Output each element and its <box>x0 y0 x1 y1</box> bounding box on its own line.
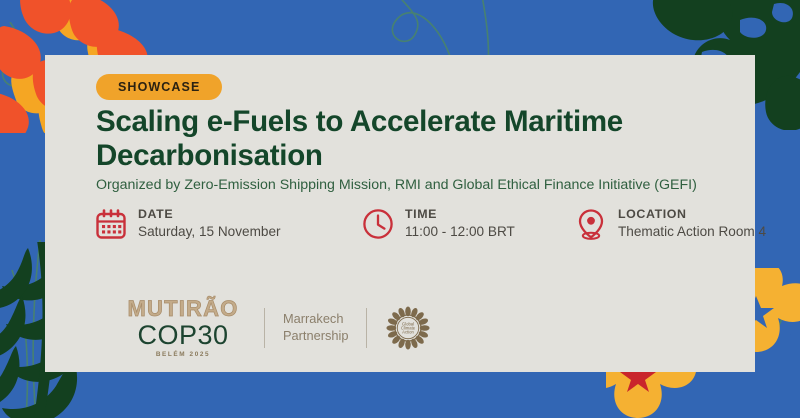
detail-location-label: LOCATION <box>618 207 766 223</box>
event-card: SHOWCASE Scaling e-Fuels to Accelerate M… <box>45 55 755 372</box>
cop30-logo: MUTIRÃO COP30 BELÉM 2025 <box>120 298 246 358</box>
detail-date-text: DATE Saturday, 15 November <box>138 207 281 240</box>
detail-date-label: DATE <box>138 207 281 223</box>
clock-icon <box>361 207 395 241</box>
event-details-row: DATE Saturday, 15 November TIME 11:00 - … <box>94 207 754 257</box>
logo-divider-left <box>264 308 265 348</box>
detail-time-text: TIME 11:00 - 12:00 BRT <box>405 207 515 240</box>
seal-line-3: Action <box>403 330 415 335</box>
detail-time-value: 11:00 - 12:00 BRT <box>405 223 515 241</box>
event-organizer: Organized by Zero-Emission Shipping Miss… <box>96 176 756 194</box>
showcase-badge: SHOWCASE <box>96 74 222 100</box>
marrakech-partnership-logo: Marrakech Partnership <box>283 311 348 345</box>
marrakech-line-2: Partnership <box>283 328 348 345</box>
event-title: Scaling e-Fuels to Accelerate Maritime D… <box>96 105 716 173</box>
logo-lockup: MUTIRÃO COP30 BELÉM 2025 Marrakech Partn… <box>120 298 431 358</box>
detail-location: LOCATION Thematic Action Room 4 <box>574 207 766 241</box>
detail-date: DATE Saturday, 15 November <box>94 207 281 241</box>
detail-location-value: Thematic Action Room 4 <box>618 223 766 241</box>
cop30-belem-text: BELÉM 2025 <box>120 351 246 358</box>
detail-location-text: LOCATION Thematic Action Room 4 <box>618 207 766 240</box>
calendar-icon <box>94 207 128 241</box>
global-climate-action-seal: Global Climate Action <box>385 305 431 351</box>
location-pin-icon <box>574 207 608 241</box>
logo-divider-right <box>366 308 367 348</box>
detail-time-label: TIME <box>405 207 515 223</box>
cop30-mutirao-text: MUTIRÃO <box>120 298 246 320</box>
marrakech-line-1: Marrakech <box>283 311 348 328</box>
detail-date-value: Saturday, 15 November <box>138 223 281 241</box>
detail-time: TIME 11:00 - 12:00 BRT <box>361 207 515 241</box>
poster-canvas: SHOWCASE Scaling e-Fuels to Accelerate M… <box>0 0 800 418</box>
cop30-wordmark: COP30 <box>120 321 246 349</box>
